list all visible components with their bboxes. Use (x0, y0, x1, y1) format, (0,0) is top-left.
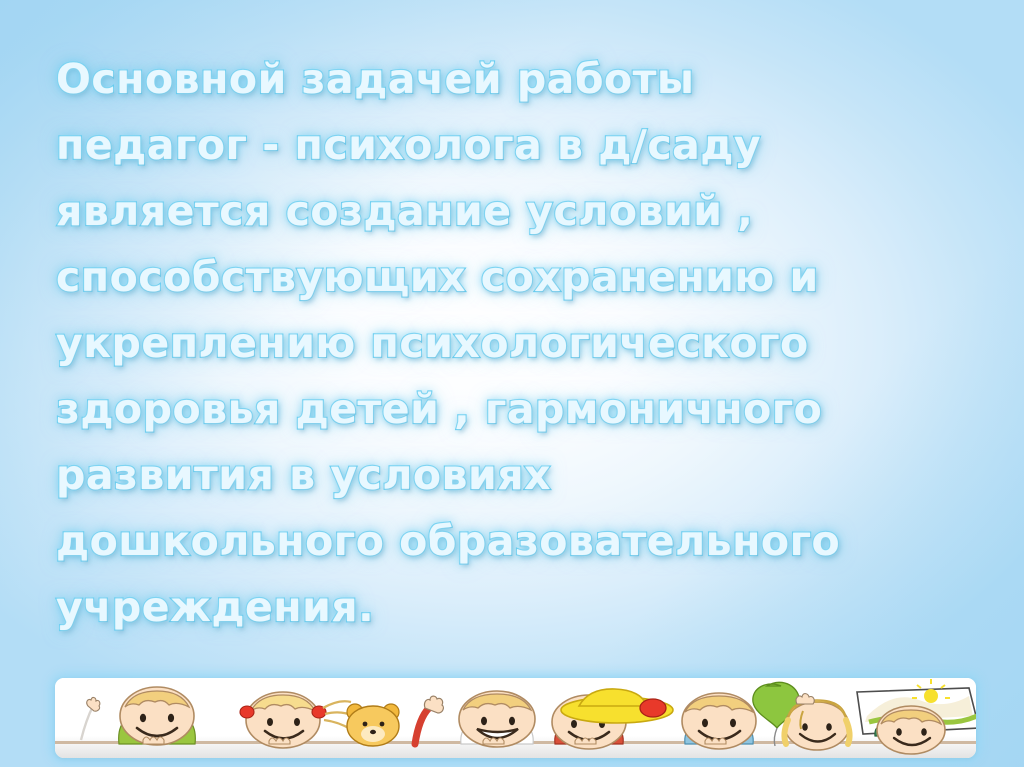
kids-illustration (55, 678, 976, 758)
child-boy-smiling (459, 691, 535, 747)
text-line: здоровья детей , гармоничного (56, 376, 996, 442)
kids-photo (55, 678, 976, 758)
child-boy-blue (682, 693, 756, 749)
text-line: Основной задачей работы (56, 46, 996, 112)
text-line: учреждения. (56, 574, 996, 640)
text-line: способствующих сохранению и (56, 244, 996, 310)
child-boy-green (119, 687, 196, 745)
text-line: дошкольного образовательного (56, 508, 996, 574)
teddy-bear-icon (347, 704, 399, 746)
text-line: развития в условиях (56, 442, 996, 508)
text-line: укреплению психологического (56, 310, 996, 376)
text-line: педагог - психолога в д/саду (56, 112, 996, 178)
slide-body-text: Основной задачей работы педагог - психол… (56, 46, 996, 640)
text-line: является создание условий , (56, 178, 996, 244)
slide-canvas: Основной задачей работы педагог - психол… (0, 0, 1024, 767)
